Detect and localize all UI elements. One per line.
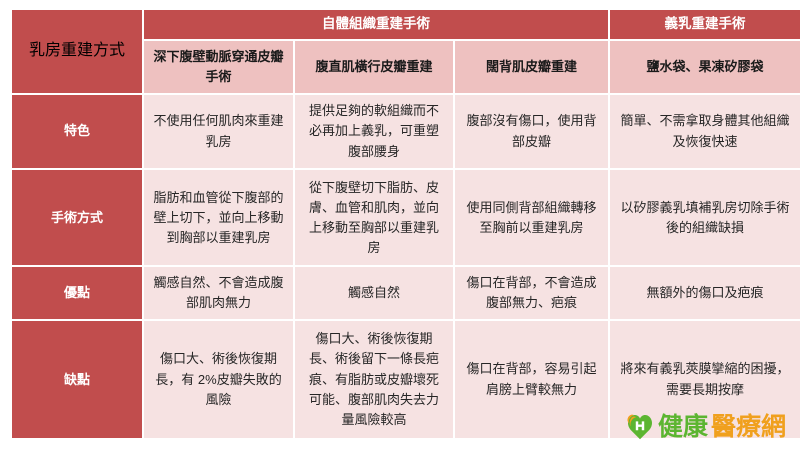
column-header-implant: 鹽水袋、果凍矽膠袋 (610, 41, 800, 93)
cell-disadvantages-latissimus: 傷口在背部，容易引起肩膀上臂較無力 (455, 321, 608, 438)
cell-procedure-latissimus: 使用同側背部組織轉移至胸前以重建乳房 (455, 170, 608, 265)
cell-advantages-tram: 觸感自然 (295, 267, 453, 319)
logo-text-health: 健康 (658, 415, 708, 440)
cell-procedure-implant: 以矽膠義乳填補乳房切除手術後的組織缺損 (610, 170, 800, 265)
table-group-header-row: 乳房重建方式 自體組織重建手術 義乳重建手術 (12, 10, 800, 39)
cell-procedure-diep: 脂肪和血管從下腹部的壁上切下，並向上移動到胸部以重建乳房 (144, 170, 293, 265)
cell-procedure-tram: 從下腹壁切下脂肪、皮膚、血管和肌肉，並向上移動至胸部以重建乳房 (295, 170, 453, 265)
row-label-disadvantages: 缺點 (12, 321, 142, 438)
heart-h-icon (625, 412, 655, 442)
cell-advantages-implant: 無額外的傷口及疤痕 (610, 267, 800, 319)
group-header-autologous: 自體組織重建手術 (144, 10, 608, 39)
row-label-features: 特色 (12, 95, 142, 168)
row-label-procedure: 手術方式 (12, 170, 142, 265)
table-row: 特色 不使用任何肌肉來重建乳房 提供足夠的軟組織而不必再加上義乳，可重塑腹部腰身… (12, 95, 800, 168)
cell-features-tram: 提供足夠的軟組織而不必再加上義乳，可重塑腹部腰身 (295, 95, 453, 168)
site-logo: 健康 醫療網 (625, 410, 786, 444)
column-header-diep: 深下腹壁動脈穿通皮瓣手術 (144, 41, 293, 93)
column-header-latissimus: 闊背肌皮瓣重建 (455, 41, 608, 93)
group-header-implant: 義乳重建手術 (610, 10, 800, 39)
logo-text-medical-net: 醫療網 (711, 415, 786, 440)
page-root: 乳房重建方式 自體組織重建手術 義乳重建手術 深下腹壁動脈穿通皮瓣手術 腹直肌橫… (0, 0, 800, 450)
row-label-advantages: 優點 (12, 267, 142, 319)
cell-advantages-diep: 觸感自然、不會造成腹部肌肉無力 (144, 267, 293, 319)
table-row: 優點 觸感自然、不會造成腹部肌肉無力 觸感自然 傷口在背部，不會造成腹部無力、疤… (12, 267, 800, 319)
cell-features-latissimus: 腹部沒有傷口，使用背部皮瓣 (455, 95, 608, 168)
column-header-tram: 腹直肌橫行皮瓣重建 (295, 41, 453, 93)
cell-features-implant: 簡單、不需拿取身體其他組織及恢復快速 (610, 95, 800, 168)
table-corner-label: 乳房重建方式 (12, 10, 142, 93)
cell-features-diep: 不使用任何肌肉來重建乳房 (144, 95, 293, 168)
breast-reconstruction-comparison-table: 乳房重建方式 自體組織重建手術 義乳重建手術 深下腹壁動脈穿通皮瓣手術 腹直肌橫… (10, 8, 800, 440)
table-row: 手術方式 脂肪和血管從下腹部的壁上切下，並向上移動到胸部以重建乳房 從下腹壁切下… (12, 170, 800, 265)
cell-disadvantages-tram: 傷口大、術後恢復期長、術後留下一條長疤痕、有脂肪或皮瓣壞死可能、腹部肌肉失去力量… (295, 321, 453, 438)
cell-disadvantages-diep: 傷口大、術後恢復期長，有 2%皮瓣失敗的風險 (144, 321, 293, 438)
cell-advantages-latissimus: 傷口在背部，不會造成腹部無力、疤痕 (455, 267, 608, 319)
